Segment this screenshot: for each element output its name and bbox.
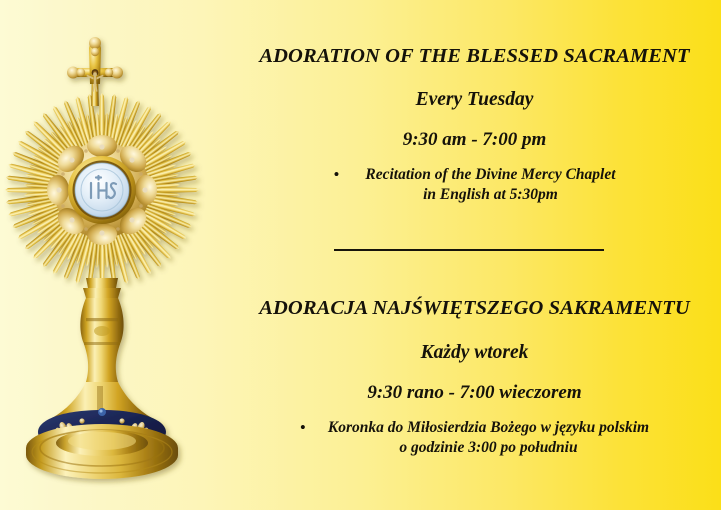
english-bullet-text: Recitation of the Divine Mercy Chaplet i… (365, 165, 615, 205)
monstrance-stem (52, 278, 152, 418)
english-bullet-line1: Recitation of the Divine Mercy Chaplet (365, 166, 615, 183)
luna-host (68, 156, 136, 224)
english-bullet-block: • Recitation of the Divine Mercy Chaplet… (228, 165, 721, 205)
monstrance-illustration (0, 0, 230, 510)
poster-text-column: ADORATION OF THE BLESSED SACRAMENT Every… (228, 0, 721, 510)
section-divider (334, 249, 604, 251)
list-item: • Recitation of the Divine Mercy Chaplet… (228, 165, 721, 205)
polish-section: ADORACJA NAJŚWIĘTSZEGO SAKRAMENTU Każdy … (228, 296, 721, 458)
bullet-icon: • (300, 418, 306, 438)
polish-bullet-block: • Koronka do Miłosierdzia Bożego w język… (228, 418, 721, 458)
list-item: • Koronka do Miłosierdzia Bożego w język… (228, 418, 721, 458)
polish-heading: ADORACJA NAJŚWIĘTSZEGO SAKRAMENTU (228, 296, 721, 320)
polish-bullet-line1: Koronka do Miłosierdzia Bożego w języku … (328, 419, 649, 436)
polish-time: 9:30 rano - 7:00 wieczorem (228, 382, 721, 404)
english-bullet-line2: in English at 5:30pm (365, 185, 615, 205)
english-time: 9:30 am - 7:00 pm (228, 129, 721, 151)
polish-bullet-text: Koronka do Miłosierdzia Bożego w języku … (328, 418, 649, 458)
english-subheading: Every Tuesday (228, 88, 721, 111)
english-heading: ADORATION OF THE BLESSED SACRAMENT (228, 44, 721, 68)
divider-wrapper (228, 249, 721, 251)
polish-bullet-line2: o godzinie 3:00 po południu (328, 438, 649, 458)
bullet-icon: • (333, 165, 339, 185)
monstrance-base (26, 424, 178, 479)
polish-subheading: Każdy wtorek (228, 341, 721, 364)
adoration-poster: ADORATION OF THE BLESSED SACRAMENT Every… (0, 0, 721, 510)
english-section: ADORATION OF THE BLESSED SACRAMENT Every… (228, 44, 721, 205)
